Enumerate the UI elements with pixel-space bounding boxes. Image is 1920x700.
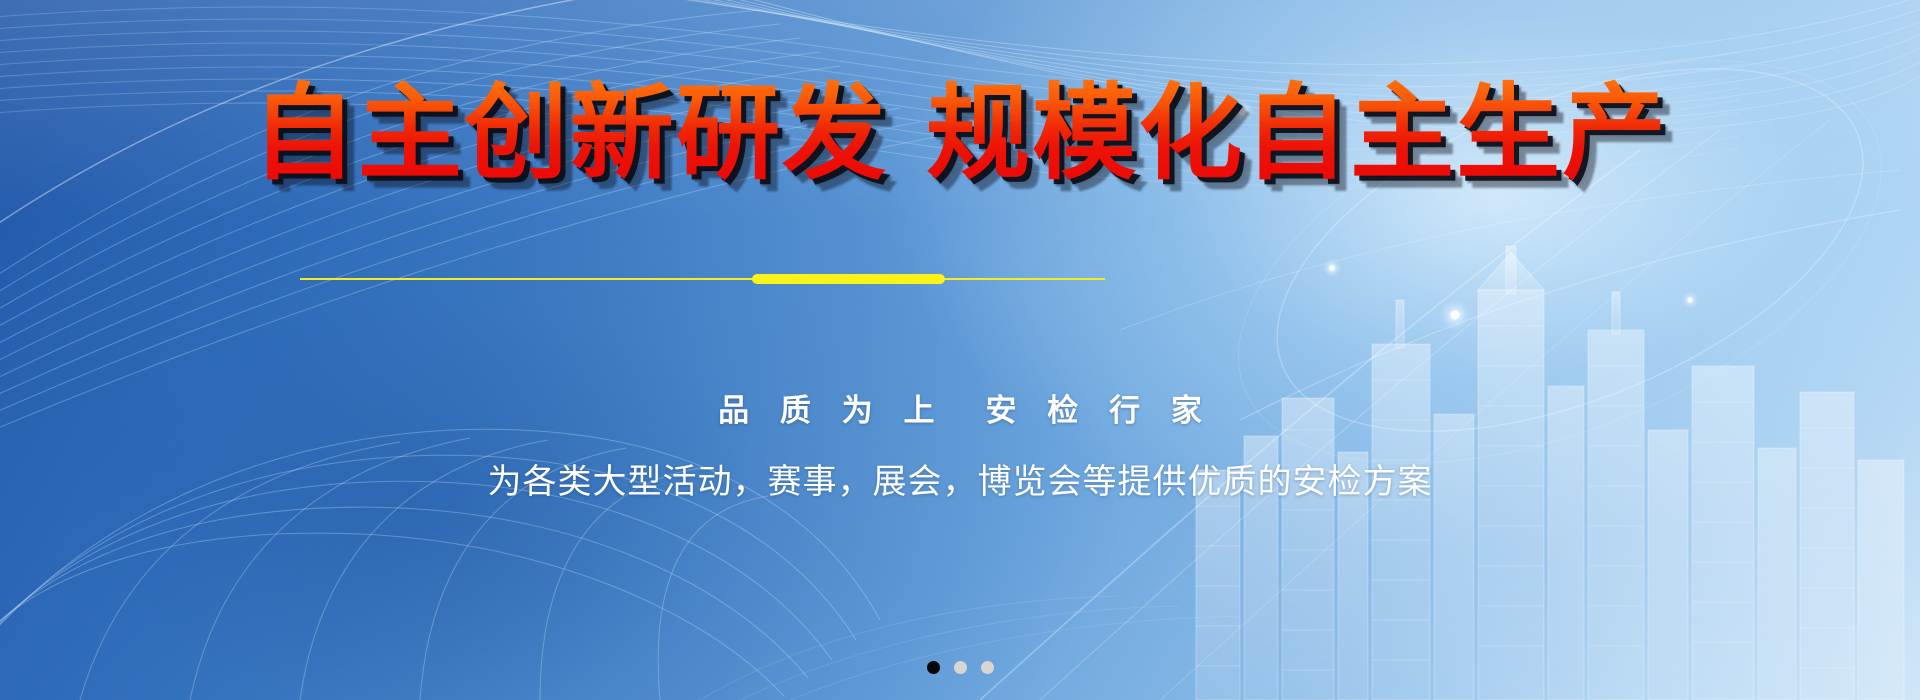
carousel-dot-3[interactable] bbox=[981, 661, 994, 674]
divider-accent-bar bbox=[752, 274, 945, 284]
banner-content: 自主创新研发 规模化自主生产 品 质 为 上 安 检 行 家 为各类大型活动，赛… bbox=[0, 0, 1920, 700]
carousel-dot-2[interactable] bbox=[954, 661, 967, 674]
carousel-dots bbox=[0, 661, 1920, 674]
hero-banner: 自主创新研发 规模化自主生产 品 质 为 上 安 检 行 家 为各类大型活动，赛… bbox=[0, 0, 1920, 700]
carousel-dot-1[interactable] bbox=[927, 661, 940, 674]
banner-headline: 自主创新研发 规模化自主生产 bbox=[0, 72, 1920, 195]
divider-line bbox=[300, 278, 1105, 280]
banner-subtitle-secondary: 为各类大型活动，赛事，展会，博览会等提供优质的安检方案 bbox=[0, 454, 1920, 503]
divider bbox=[0, 270, 1920, 288]
banner-subtitle-primary: 品 质 为 上 安 检 行 家 bbox=[0, 385, 1920, 430]
